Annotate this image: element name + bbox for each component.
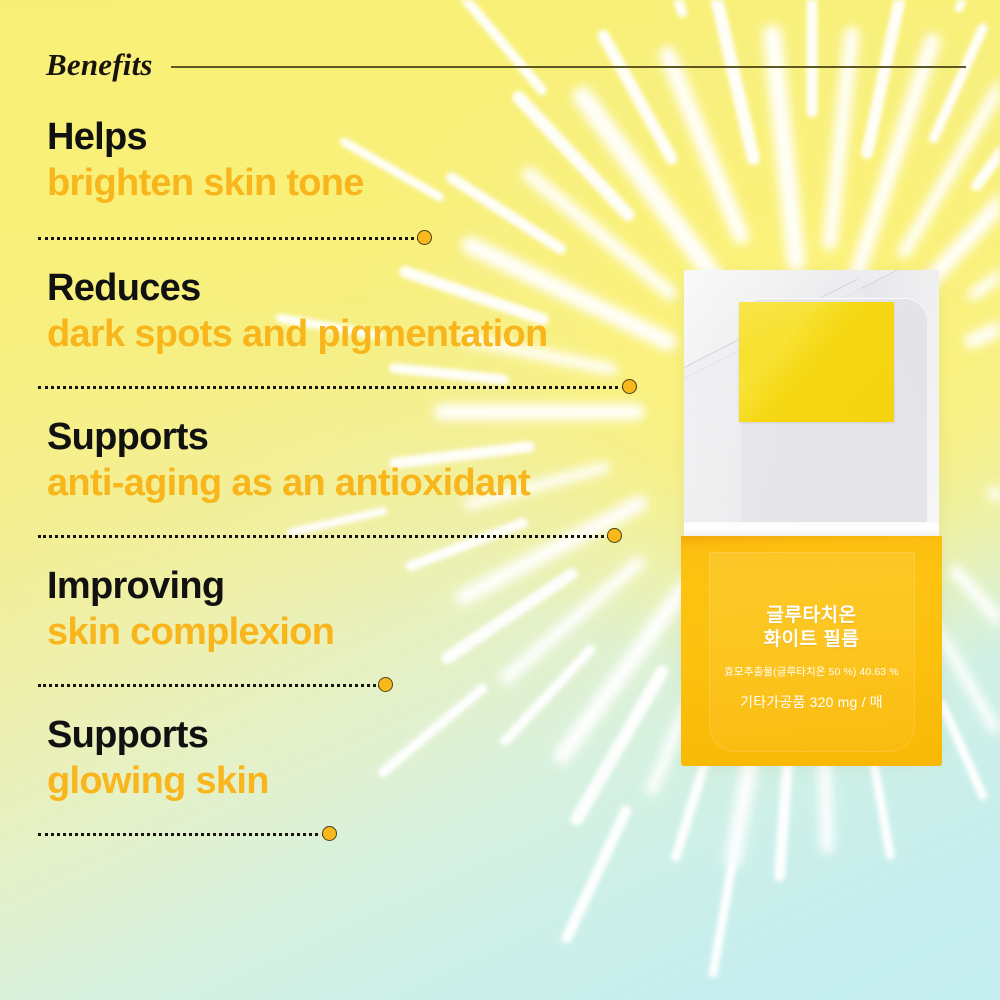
- package-orange-panel: 글루타치온 화이트 필름 효모추출물(글루타치온 50 %) 40.63 % 기…: [681, 536, 942, 766]
- benefit-item: Helpsbrighten skin tone: [0, 118, 660, 252]
- benefit-subtext: skin complexion: [47, 611, 660, 654]
- benefit-heading: Supports: [47, 418, 660, 458]
- divider-dots: [38, 386, 625, 389]
- benefit-heading: Reduces: [47, 269, 660, 309]
- benefit-heading: Improving: [47, 567, 660, 607]
- benefits-infographic: Benefits Helpsbrighten skin toneReducesd…: [0, 0, 1000, 1000]
- benefit-text: Supportsanti-aging as an antioxidant: [0, 418, 660, 504]
- package-label: 글루타치온 화이트 필름 효모추출물(글루타치온 50 %) 40.63 % 기…: [681, 604, 942, 712]
- divider-node-icon: [607, 528, 622, 543]
- benefit-divider: [38, 524, 660, 550]
- benefit-heading: Helps: [47, 118, 660, 158]
- divider-node-icon: [378, 677, 393, 692]
- page-title: Benefits: [46, 47, 153, 83]
- film-sheen: [739, 302, 894, 422]
- section-header: Benefits: [46, 44, 966, 86]
- product-name-line1: 글루타치온: [681, 604, 942, 628]
- divider-dots: [38, 684, 381, 687]
- divider-dots: [38, 237, 420, 240]
- benefit-divider: [38, 822, 660, 848]
- package-top-folds: [684, 270, 939, 542]
- divider-node-icon: [322, 826, 337, 841]
- product-name-line2: 화이트 필름: [681, 628, 942, 652]
- benefit-divider: [38, 673, 660, 699]
- benefit-item: Supportsglowing skin: [0, 716, 660, 848]
- benefit-item: Reducesdark spots and pigmentation: [0, 269, 660, 401]
- header-rule: [171, 66, 966, 68]
- benefits-list: Helpsbrighten skin toneReducesdark spots…: [0, 118, 660, 848]
- product-ingredient: 효모추출물(글루타치온 50 %) 40.63 %: [681, 664, 942, 679]
- divider-dots: [38, 833, 325, 836]
- benefit-text: Supportsglowing skin: [0, 716, 660, 802]
- benefit-item: Improvingskin complexion: [0, 567, 660, 699]
- benefit-subtext: glowing skin: [47, 760, 660, 803]
- divider-node-icon: [417, 230, 432, 245]
- benefit-subtext: dark spots and pigmentation: [47, 313, 660, 356]
- benefit-divider: [38, 226, 660, 252]
- benefit-subtext: brighten skin tone: [47, 162, 660, 205]
- benefit-text: Helpsbrighten skin tone: [0, 118, 660, 204]
- benefit-text: Improvingskin complexion: [0, 567, 660, 653]
- benefit-divider: [38, 375, 660, 401]
- benefit-subtext: anti-aging as an antioxidant: [47, 462, 660, 505]
- benefit-item: Supportsanti-aging as an antioxidant: [0, 418, 660, 550]
- product-package: 글루타치온 화이트 필름 효모추출물(글루타치온 50 %) 40.63 % 기…: [681, 268, 941, 766]
- product-dose: 기타가공품 320 mg / 매: [681, 692, 942, 712]
- divider-dots: [38, 535, 610, 538]
- benefit-heading: Supports: [47, 716, 660, 756]
- divider-node-icon: [622, 379, 637, 394]
- benefit-text: Reducesdark spots and pigmentation: [0, 269, 660, 355]
